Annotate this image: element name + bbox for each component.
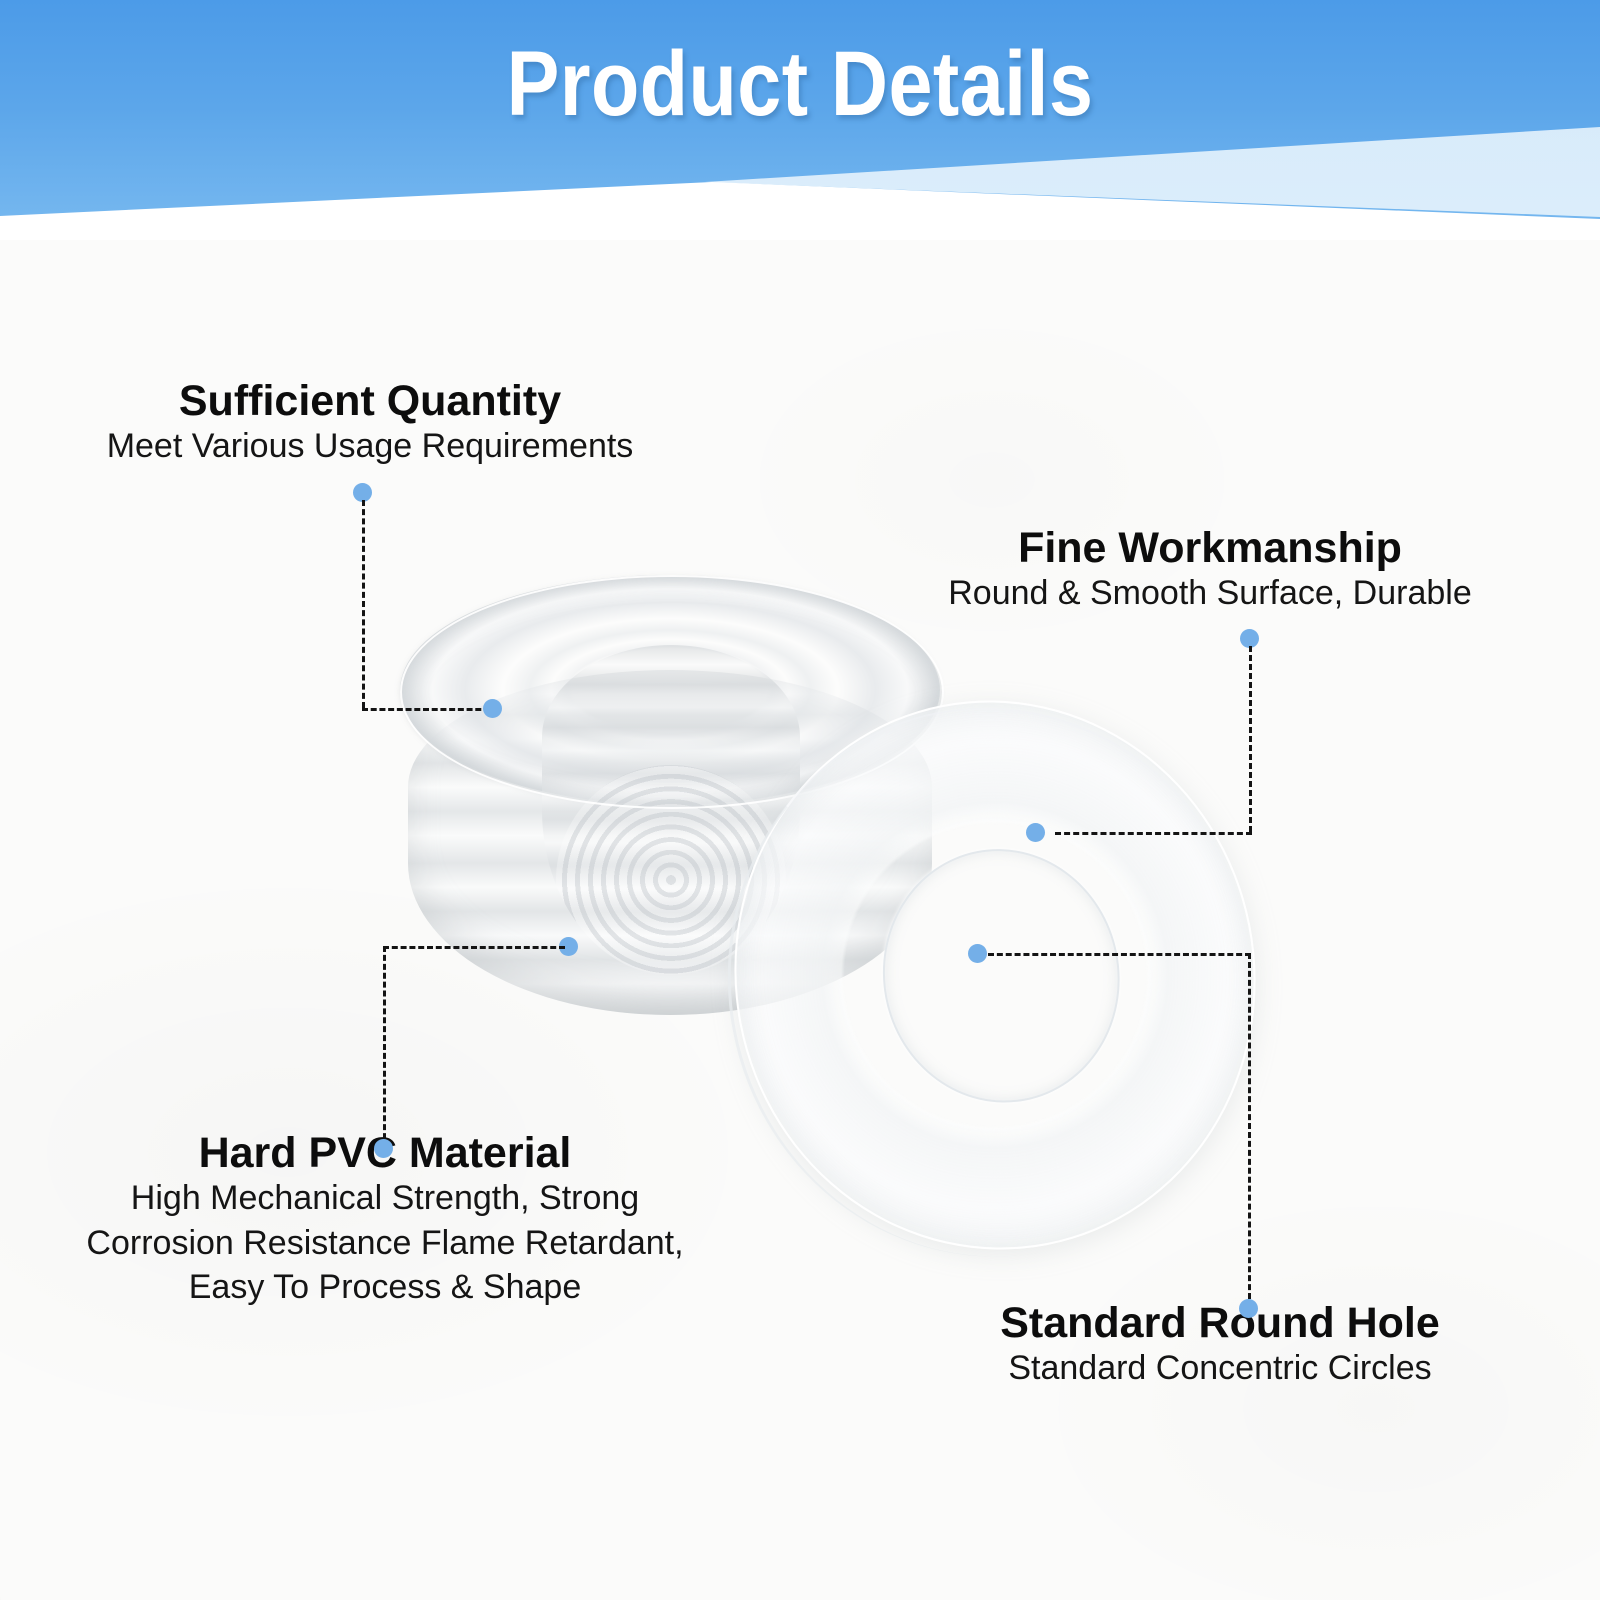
leader-segment-horizontal — [1055, 832, 1252, 835]
product-details-infographic: Product Details Sufficient Quantity Meet… — [0, 0, 1600, 1600]
page-title: Product Details — [112, 38, 1488, 130]
single-washer-body — [687, 655, 1302, 1294]
washer-stack-rim — [400, 575, 944, 809]
washer-stack-center-hole — [542, 645, 800, 975]
leader-segment-vertical — [362, 500, 365, 708]
callout-subtitle-line: Corrosion Resistance Flame Retardant, — [40, 1221, 730, 1265]
leader-segment-horizontal — [988, 953, 1251, 956]
callout-subtitle-line: High Mechanical Strength, Strong — [40, 1176, 730, 1220]
washer-stack-side — [408, 670, 932, 1015]
washer-stack-top-face — [400, 575, 940, 805]
single-washer-edge-highlight — [681, 662, 1299, 1302]
single-washer-center-hole — [861, 829, 1141, 1123]
callout-title: Sufficient Quantity — [85, 378, 655, 424]
leader-segment-horizontal — [383, 946, 565, 949]
callout-subtitle-line: Easy To Process & Shape — [40, 1265, 730, 1309]
callout-subtitle-line: Standard Concentric Circles — [935, 1346, 1505, 1390]
callout-subtitle-line: Round & Smooth Surface, Durable — [915, 571, 1505, 615]
leader-dot-product-end — [1026, 823, 1045, 842]
callout-subtitle: Standard Concentric Circles — [935, 1346, 1505, 1390]
leader-segment-vertical — [1248, 953, 1251, 1308]
header-banner: Product Details — [0, 0, 1600, 240]
leader-dot-product-end — [968, 944, 987, 963]
callout-sufficient-quantity: Sufficient Quantity Meet Various Usage R… — [85, 378, 655, 469]
callout-fine-workmanship: Fine Workmanship Round & Smooth Surface,… — [915, 525, 1505, 616]
leader-segment-vertical — [383, 946, 386, 1148]
callout-subtitle: High Mechanical Strength, Strong Corrosi… — [40, 1176, 730, 1309]
callout-subtitle-line: Meet Various Usage Requirements — [85, 424, 655, 468]
callout-title: Fine Workmanship — [915, 525, 1505, 571]
callout-standard-round-hole: Standard Round Hole Standard Concentric … — [935, 1300, 1505, 1391]
callout-title: Standard Round Hole — [935, 1300, 1505, 1346]
leader-dot-product-end — [483, 699, 502, 718]
single-washer-image — [687, 655, 1302, 1294]
leader-dot-text-end — [1239, 1299, 1258, 1318]
washer-stack-image — [400, 575, 940, 1055]
leader-segment-vertical — [1249, 646, 1252, 832]
leader-dot-text-end — [374, 1139, 393, 1158]
callout-subtitle: Meet Various Usage Requirements — [85, 424, 655, 468]
leader-segment-horizontal — [362, 708, 490, 711]
callout-subtitle: Round & Smooth Surface, Durable — [915, 571, 1505, 615]
